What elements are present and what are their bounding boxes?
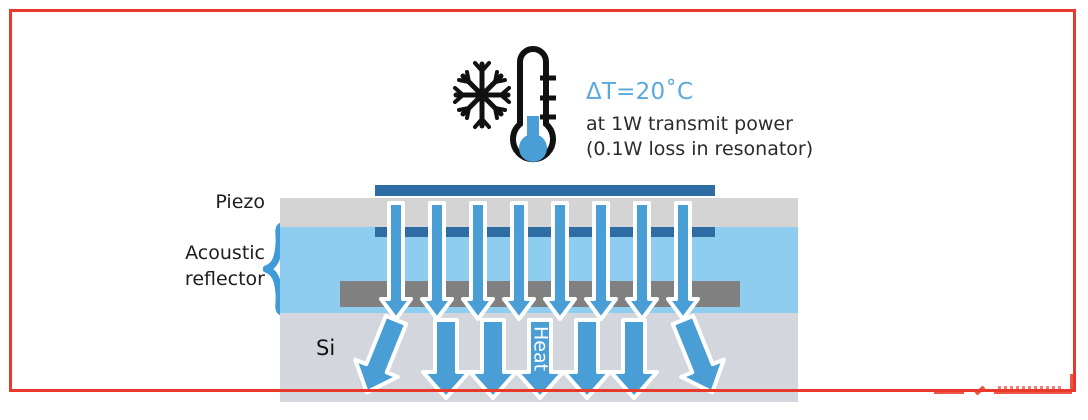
- heat-arrow-lower: [423, 320, 469, 398]
- watermark-artifact: [932, 374, 1082, 400]
- heat-arrow-lower: [611, 320, 657, 398]
- heat-arrow-upper: [545, 203, 575, 319]
- heat-arrow-upper: [463, 203, 493, 319]
- label-piezo: Piezo: [140, 191, 265, 213]
- label-acoustic-reflector-line1: Acoustic: [116, 241, 265, 267]
- heat-arrow-upper: [422, 203, 452, 319]
- label-acoustic-reflector-line2: reflector: [116, 267, 265, 293]
- heat-flow-arrows: Heat: [280, 198, 798, 402]
- thermometer-icon: [452, 44, 564, 174]
- heat-arrow-lower: [564, 320, 610, 398]
- heat-arrow-lower: [470, 320, 516, 398]
- label-acoustic-reflector: Acoustic reflector: [116, 241, 265, 292]
- snowflake-icon: [455, 63, 509, 127]
- heat-arrow-upper: [504, 203, 534, 319]
- heat-arrow-label: Heat: [530, 326, 552, 371]
- temperature-callout: ΔT=20˚C at 1W transmit power (0.1W loss …: [586, 78, 886, 161]
- cooling-icon-group: [452, 44, 564, 174]
- heat-arrow-upper-group: [381, 203, 698, 319]
- heat-arrow-upper: [586, 203, 616, 319]
- device-stack: Si: [280, 198, 798, 402]
- heat-arrow-upper: [381, 203, 411, 319]
- figure-canvas: ΔT=20˚C at 1W transmit power (0.1W loss …: [0, 0, 1088, 420]
- transmit-power-note: at 1W transmit power: [586, 112, 886, 137]
- resonator-loss-note: (0.1W loss in resonator): [586, 137, 886, 162]
- heat-arrow-upper: [668, 203, 698, 319]
- delta-t-value: ΔT=20˚C: [586, 78, 886, 108]
- heat-arrow-lower-left-outer: [345, 311, 417, 401]
- heat-arrow-upper: [627, 203, 657, 319]
- top-electrode: [375, 185, 715, 196]
- heat-arrow-lower-right-outer: [662, 311, 734, 401]
